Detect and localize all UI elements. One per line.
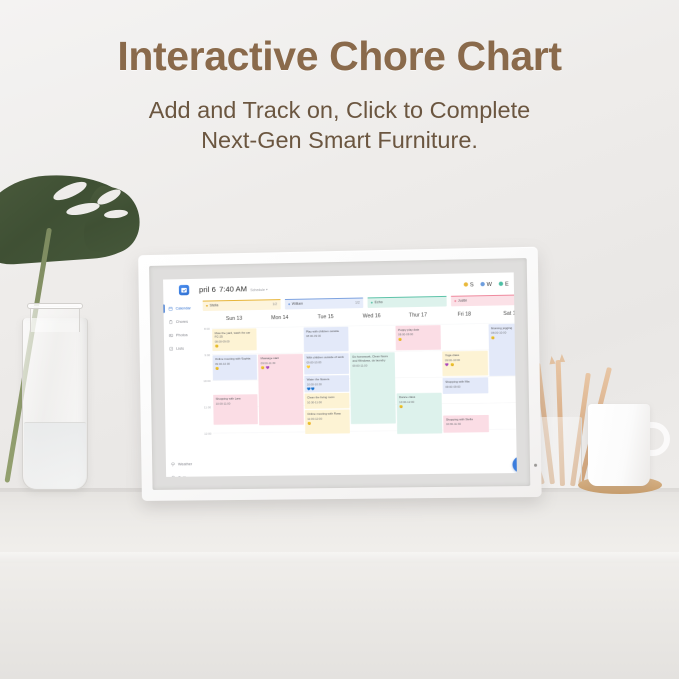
- vase-rim: [27, 303, 83, 309]
- event-time: 09:00-11:30: [260, 360, 300, 365]
- avatar[interactable]: E: [498, 280, 508, 287]
- event-time: 09:00-09:00: [445, 384, 485, 389]
- event-time: 10:00-10:30: [306, 382, 346, 386]
- sidebar-item-photos[interactable]: Photos: [163, 328, 199, 342]
- avatar-dot: [498, 281, 502, 285]
- hour-label: 9:00: [204, 353, 210, 356]
- calendar-icon: [168, 306, 173, 311]
- day-column[interactable]: Do homework, Clean floors and Windows, d…: [348, 323, 397, 476]
- white-mug: [588, 404, 650, 486]
- event-time: 10:30-11:30: [445, 422, 485, 426]
- event-title: Play with children outside: [305, 328, 345, 333]
- subtitle-line-2: Next-Gen Smart Furniture.: [201, 127, 478, 153]
- event-card[interactable]: Puppy play date08:00-09:00😊: [395, 325, 440, 350]
- sidebar-item-label: Settings: [178, 475, 192, 477]
- calendar-check-icon: [178, 284, 188, 295]
- sidebar-item-weather[interactable]: Weather: [165, 457, 201, 471]
- sidebar-item-label: Calendar: [175, 306, 190, 311]
- app-sidebar: CalendarChoresPhotosLists WeatherSetting…: [163, 278, 202, 476]
- sidebar-spacer: [164, 354, 201, 457]
- app-main: April 6 7:40 AM Schedule ▾ SWEJ Stella1/…: [198, 272, 516, 477]
- day-header[interactable]: Sat 19: [487, 307, 516, 322]
- pencil-tip-icon: [549, 356, 556, 365]
- event-card[interactable]: Online meeting with Rosa11:00-12:00😊: [304, 409, 349, 433]
- event-card[interactable]: Shopping with Stella10:30-11:30: [443, 414, 489, 432]
- event-emoji: 💜 😊: [444, 362, 484, 367]
- event-card[interactable]: Water the flowers10:00-10:30💙💙: [304, 375, 349, 392]
- day-header[interactable]: Sun 13: [211, 312, 257, 327]
- sidebar-item-label: Weather: [177, 461, 191, 465]
- vase-neck: [30, 306, 80, 332]
- day-header[interactable]: Thur 17: [394, 309, 441, 324]
- avatar[interactable]: J: [515, 280, 516, 287]
- calendar-app: CalendarChoresPhotosLists WeatherSetting…: [163, 272, 517, 477]
- member-name: William: [291, 302, 302, 306]
- day-column[interactable]: Puppy play date08:00-09:00😊Dance class10…: [394, 323, 443, 477]
- frame-bezel: CalendarChoresPhotosLists WeatherSetting…: [149, 258, 530, 490]
- event-title: Mow the yard, wash the car FC-25: [214, 330, 254, 339]
- event-time: 09:00-10:00: [215, 361, 255, 366]
- member-dot: [288, 303, 290, 305]
- event-time: 08:00-09:00: [214, 339, 254, 344]
- event-title: Shopping with Lara: [215, 396, 255, 401]
- smart-display-frame: CalendarChoresPhotosLists WeatherSetting…: [138, 247, 542, 501]
- subtitle-line-1: Add and Track on, Click to Complete: [149, 97, 530, 123]
- day-column[interactable]: Yoga class09:00-10:00💜 😊Shopping with Mi…: [441, 322, 490, 477]
- sidebar-item-label: Photos: [175, 332, 187, 336]
- view-selector-label: Schedule: [250, 288, 265, 292]
- sidebar-item-calendar[interactable]: Calendar: [163, 301, 199, 315]
- event-time: 08:00-09:00: [398, 332, 438, 337]
- avatar-dot: [463, 282, 467, 286]
- schedule-grid[interactable]: 8:009:0010:0011:0012:00 Mow the yard, wa…: [199, 321, 516, 476]
- member-chip[interactable]: William1/2: [284, 297, 363, 309]
- status-led: [534, 464, 537, 467]
- day-header[interactable]: Tue 15: [302, 310, 348, 325]
- day-header[interactable]: Mon 14: [256, 311, 302, 326]
- table-front-panel: [0, 563, 679, 679]
- event-time: 11:00-12:00: [307, 416, 347, 420]
- sidebar-item-lists[interactable]: Lists: [164, 341, 200, 355]
- avatar-initial: S: [469, 281, 473, 288]
- avatar-dot: [480, 281, 484, 285]
- photo-icon: [168, 333, 173, 338]
- member-dot: [454, 300, 456, 302]
- avatar[interactable]: W: [480, 280, 492, 287]
- view-selector[interactable]: Schedule ▾: [250, 287, 267, 291]
- event-card[interactable]: Clean the living room10:30-11:00: [304, 392, 349, 408]
- table-surface: [0, 492, 679, 558]
- day-header[interactable]: Wed 16: [348, 309, 394, 324]
- event-card[interactable]: Shopping with Mia09:00-09:00: [442, 377, 488, 394]
- event-card[interactable]: Mow the yard, wash the car FC-2508:00-09…: [212, 328, 257, 351]
- event-time: 08:00-10:00: [491, 330, 517, 335]
- day-column[interactable]: Mow the yard, wash the car FC-2508:00-09…: [211, 326, 259, 476]
- avatar-initial: E: [504, 280, 508, 287]
- umbrella-icon: [170, 461, 175, 466]
- avatar[interactable]: S: [463, 281, 473, 288]
- member-dot: [370, 301, 372, 303]
- event-card[interactable]: Online meeting with Sophia09:00-10:00😊: [212, 354, 257, 380]
- event-card[interactable]: Play with children outside08:00-09:00: [303, 326, 348, 351]
- event-time: 09:00-11:00: [352, 363, 392, 368]
- day-header[interactable]: Fri 18: [441, 308, 488, 323]
- day-column[interactable]: Massage start09:00-11:30😊 💜: [257, 325, 305, 476]
- hour-label: 12:00: [204, 432, 211, 435]
- event-emoji: 😊: [491, 335, 517, 340]
- event-time: 08:00-09:00: [305, 333, 345, 338]
- vase-water: [24, 422, 86, 489]
- event-card[interactable]: Morning jogging08:00-10:00😊: [488, 323, 516, 376]
- event-emoji: 😊 💜: [260, 365, 300, 370]
- hour-label: 10:00: [203, 379, 210, 382]
- event-title: With children outside of work: [306, 355, 346, 360]
- event-card[interactable]: With children outside of work09:00-10:00…: [303, 353, 348, 375]
- page-subtitle: Add and Track on, Click to Complete Next…: [0, 95, 679, 155]
- event-card[interactable]: Dance class10:00-12:00😊: [396, 392, 442, 433]
- day-columns[interactable]: Mow the yard, wash the car FC-2508:00-09…: [211, 321, 516, 476]
- member-chip[interactable]: Echo: [367, 295, 446, 307]
- hour-label: 8:00: [204, 327, 210, 330]
- member-dot: [206, 304, 208, 306]
- event-title: Yoga class: [444, 352, 484, 357]
- member-name: Stella: [209, 303, 218, 307]
- member-progress: 1/2: [355, 301, 360, 305]
- sidebar-item-label: Lists: [176, 346, 184, 350]
- event-title: Water the flowers: [306, 377, 346, 382]
- pencil-tip-icon: [559, 354, 565, 362]
- member-progress: 1/2: [272, 302, 277, 306]
- member-chip[interactable]: Stella1/2: [202, 299, 280, 311]
- marketing-headline: Interactive Chore Chart Add and Track on…: [0, 34, 679, 155]
- event-title: Clean the living room: [306, 395, 346, 400]
- member-name: Echo: [374, 300, 382, 304]
- sidebar-item-settings[interactable]: Settings: [166, 470, 202, 476]
- avatar-dot: [515, 281, 516, 285]
- event-title: Online meeting with Sophia: [214, 356, 254, 361]
- event-card[interactable]: Do homework, Clean floors and Windows, d…: [349, 352, 395, 424]
- event-time: 10:30-11:00: [307, 400, 347, 404]
- chevron-down-icon: ▾: [266, 288, 267, 291]
- event-title: Online meeting with Rosa: [307, 411, 347, 416]
- event-title: Shopping with Stella: [445, 417, 485, 422]
- day-column[interactable]: Play with children outside08:00-09:00Wit…: [302, 324, 351, 476]
- event-title: Shopping with Mia: [445, 379, 485, 384]
- sidebar-item-chores[interactable]: Chores: [163, 314, 199, 328]
- list-check-icon: [168, 346, 173, 351]
- event-emoji: 💛: [306, 364, 346, 369]
- event-emoji: 😊: [307, 421, 347, 426]
- event-time: 10:00-12:00: [399, 399, 439, 403]
- event-emoji: 😊: [215, 366, 255, 371]
- avatar-initial: W: [486, 280, 491, 287]
- hour-label: 11:00: [203, 405, 210, 408]
- event-title: Massage start: [260, 355, 300, 360]
- day-column[interactable]: Morning jogging08:00-10:00😊: [487, 321, 516, 476]
- event-emoji: 😊: [399, 404, 439, 409]
- event-time: 09:00-10:00: [306, 360, 346, 365]
- gear-icon: [170, 475, 175, 477]
- event-card[interactable]: Yoga class09:00-10:00💜 😊: [442, 350, 488, 375]
- event-emoji: 😊: [398, 336, 438, 341]
- event-time: 10:00-11:00: [215, 401, 255, 405]
- current-time: 7:40 AM: [219, 284, 247, 293]
- event-time: 09:00-10:00: [444, 357, 484, 362]
- event-card[interactable]: Massage start09:00-11:30😊 💜: [258, 353, 304, 425]
- member-avatars: SWEJ: [463, 280, 516, 288]
- device-screen[interactable]: CalendarChoresPhotosLists WeatherSetting…: [163, 272, 517, 477]
- event-card[interactable]: Shopping with Lara10:00-11:00: [213, 394, 258, 425]
- event-title: Puppy play date: [398, 327, 438, 332]
- event-title: Dance class: [399, 394, 439, 399]
- member-chip[interactable]: Justin: [450, 294, 516, 306]
- event-emoji: 😊: [214, 343, 254, 348]
- sidebar-item-label: Chores: [175, 319, 187, 323]
- member-name: Justin: [457, 298, 466, 302]
- event-emoji: 💙💙: [306, 386, 346, 391]
- clipboard-icon: [168, 319, 173, 324]
- event-title: Morning jogging: [490, 325, 516, 330]
- page-title: Interactive Chore Chart: [0, 34, 679, 78]
- event-title: Do homework, Clean floors and Windows, d…: [352, 354, 392, 363]
